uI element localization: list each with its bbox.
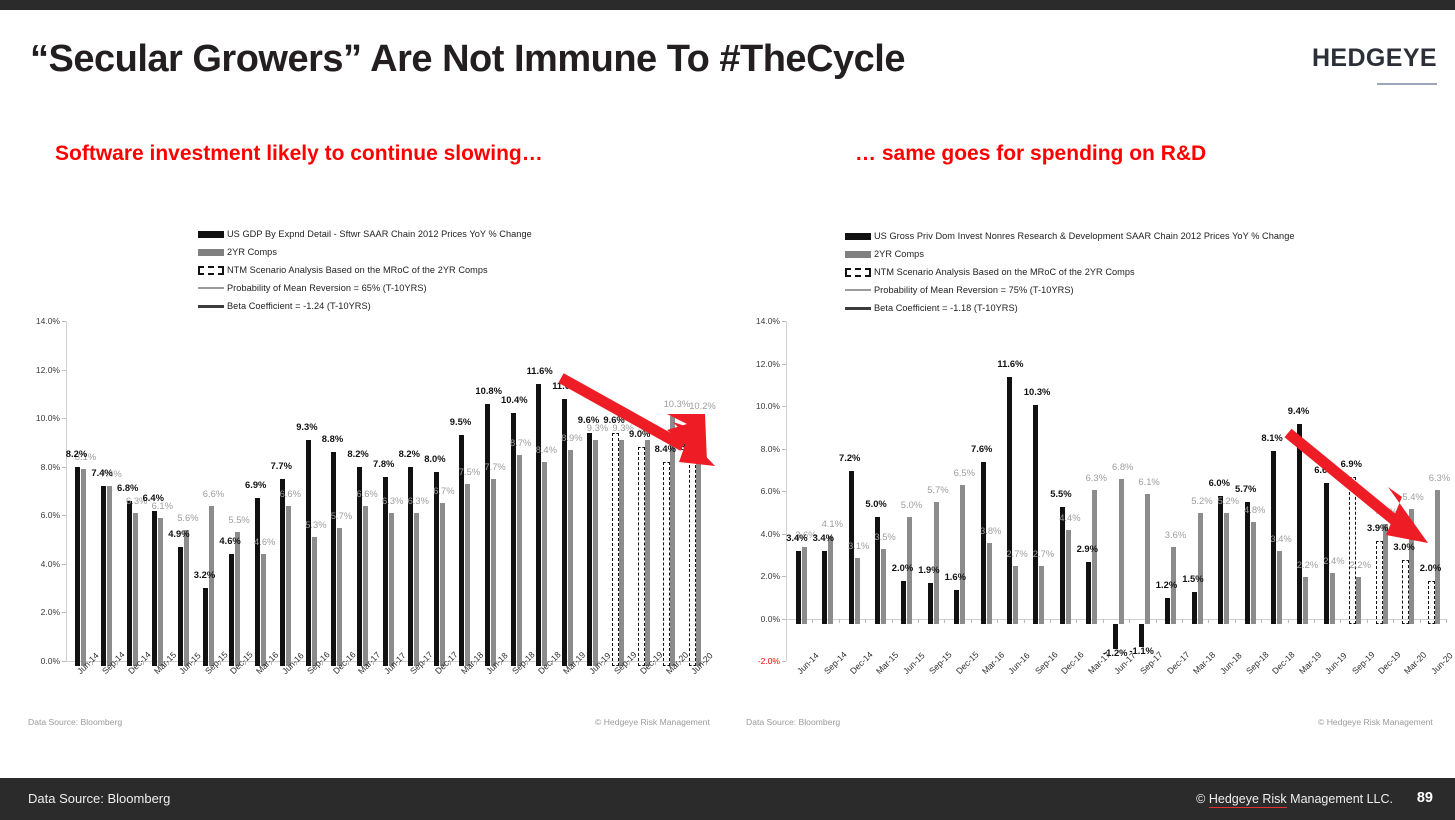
chart-source-left: Data Source: Bloomberg xyxy=(28,717,122,727)
x-axis-tick-label: Jun-18 xyxy=(1218,650,1244,676)
comps-series-bar xyxy=(934,502,939,623)
comps-data-label: 6.6% xyxy=(356,488,377,499)
primary-data-label: 7.4% xyxy=(91,467,112,478)
x-axis-tick-label: Mar-19 xyxy=(1297,650,1323,676)
comps-data-label: 7.5% xyxy=(459,466,480,477)
comps-series-bar xyxy=(619,440,624,666)
x-axis-tick-mark xyxy=(1050,619,1051,623)
comps-series-bar xyxy=(1066,530,1071,624)
comps-data-label: 10.3% xyxy=(664,398,691,409)
comps-series-bar xyxy=(1303,577,1308,624)
comps-data-label: 2.4% xyxy=(1323,555,1344,566)
comps-data-label: 4.8% xyxy=(1244,504,1265,515)
comps-series-bar xyxy=(158,518,163,666)
primary-data-label: 6.6% xyxy=(1314,464,1335,475)
page-number: 89 xyxy=(1417,790,1433,806)
primary-data-label: 8.8% xyxy=(322,433,343,444)
comps-data-label: 5.0% xyxy=(901,499,922,510)
x-axis-tick-mark xyxy=(1235,619,1236,623)
comps-data-label: 6.3% xyxy=(408,495,429,506)
comps-series-bar xyxy=(465,484,470,666)
comps-data-label: 5.7% xyxy=(927,484,948,495)
x-axis-tick-label: Sep-15 xyxy=(927,649,954,676)
legend-item: Beta Coefficient = -1.18 (T-10YRS) xyxy=(845,299,1450,317)
comps-series-bar xyxy=(1409,509,1414,624)
x-axis-tick-label: Jun-14 xyxy=(795,650,821,676)
primary-data-label: 10.4% xyxy=(501,394,528,405)
comps-series-bar xyxy=(987,543,992,624)
x-axis-tick-mark xyxy=(1367,619,1368,623)
comps-series-bar xyxy=(881,549,886,623)
comps-series-bar xyxy=(1251,522,1256,624)
footer-copyright: © Hedgeye Risk Management LLC. xyxy=(1196,792,1393,806)
legend-swatch-dashed-bar-icon xyxy=(198,266,224,275)
comps-series-bar xyxy=(235,532,240,666)
legend-item-label: 2YR Comps xyxy=(227,247,277,257)
comps-series-bar xyxy=(209,506,214,666)
comps-series-bar xyxy=(802,547,807,624)
comps-data-label: 2.2% xyxy=(1297,559,1318,570)
primary-series-bar xyxy=(536,384,541,666)
forecast-bar xyxy=(1376,541,1383,624)
forecast-bar xyxy=(689,460,696,666)
comps-data-label: 8.9% xyxy=(561,432,582,443)
y-axis-tick-label: 6.0% xyxy=(746,486,780,496)
primary-series-bar xyxy=(822,551,827,623)
comps-data-label: 5.2% xyxy=(1191,495,1212,506)
primary-data-label: 3.2% xyxy=(194,569,215,580)
primary-data-label: 7.8% xyxy=(373,458,394,469)
primary-series-bar xyxy=(1060,507,1065,624)
comps-data-label: 5.4% xyxy=(1402,491,1423,502)
primary-series-bar xyxy=(255,498,260,666)
comps-data-label: 2.2% xyxy=(1350,559,1371,570)
primary-data-label: 11.0% xyxy=(552,380,578,391)
subtitle-left: Software investment likely to continue s… xyxy=(55,142,543,166)
chart-credit-left: © Hedgeye Risk Management xyxy=(595,717,710,727)
primary-data-label: 1.5% xyxy=(1182,573,1203,584)
comps-data-label: 8.4% xyxy=(536,444,557,455)
primary-data-label: 8.5% xyxy=(680,441,701,452)
chart-source-right: Data Source: Bloomberg xyxy=(746,717,840,727)
y-axis-tick-label: 8.0% xyxy=(746,444,780,454)
y-axis-tick-label: -2.0% xyxy=(746,656,780,666)
comps-series-bar xyxy=(1198,513,1203,624)
x-axis-tick-mark xyxy=(1446,619,1447,623)
primary-data-label: 9.5% xyxy=(450,416,471,427)
primary-data-label: 4.6% xyxy=(219,535,240,546)
comps-data-label: 5.2% xyxy=(1218,495,1239,506)
forecast-bar xyxy=(1402,560,1409,624)
primary-data-label: 7.7% xyxy=(271,460,292,471)
comps-series-bar xyxy=(568,450,573,666)
legend-item: 2YR Comps xyxy=(845,245,1450,263)
primary-data-label: 2.0% xyxy=(1420,562,1441,573)
footer-bar: Data Source: Bloomberg © Hedgeye Risk Ma… xyxy=(0,778,1455,820)
primary-series-bar xyxy=(178,547,183,666)
primary-data-label: 5.0% xyxy=(865,498,886,509)
legend-swatch-black-bar-icon xyxy=(845,233,871,240)
comps-series-bar xyxy=(1145,494,1150,624)
comps-series-bar xyxy=(1092,490,1097,624)
comps-series-bar xyxy=(855,558,860,624)
primary-data-label: 8.0% xyxy=(424,453,445,464)
primary-data-label: 3.4% xyxy=(786,532,807,543)
comps-data-label: 5.6% xyxy=(177,512,198,523)
legend-item-label: 2YR Comps xyxy=(874,249,924,259)
primary-series-bar xyxy=(1324,483,1329,623)
primary-series-bar xyxy=(1218,496,1223,624)
comps-series-bar xyxy=(1039,566,1044,623)
primary-data-label: 11.6% xyxy=(997,358,1023,369)
primary-data-label: 5.7% xyxy=(1235,483,1256,494)
primary-series-bar xyxy=(75,467,80,666)
footer-copyright-tail: Management LLC. xyxy=(1287,792,1393,806)
x-axis-tick-mark xyxy=(1024,619,1025,623)
legend-swatch-gray-line-icon xyxy=(198,287,224,289)
x-axis-tick-mark xyxy=(1340,619,1341,623)
legend-item-label: US GDP By Expnd Detail - Sftwr SAAR Chai… xyxy=(227,229,532,239)
primary-series-bar xyxy=(1033,405,1038,624)
comps-series-bar xyxy=(312,537,317,666)
comps-series-bar xyxy=(133,513,138,666)
legend-swatch-dark-line-icon xyxy=(845,307,871,310)
x-axis-tick-mark xyxy=(812,619,813,623)
legend-item: NTM Scenario Analysis Based on the MRoC … xyxy=(845,263,1450,281)
comps-data-label: 4.6% xyxy=(254,536,275,547)
hedgeye-logo: HEDGEYE xyxy=(1312,44,1437,85)
primary-series-bar xyxy=(928,583,933,623)
logo-text: HEDGEYE xyxy=(1312,44,1437,73)
x-axis-tick-mark xyxy=(1288,619,1289,623)
comps-series-bar xyxy=(1356,577,1361,624)
x-axis-tick-label: Dec-19 xyxy=(1376,649,1403,676)
y-axis-tick-label: 0.0% xyxy=(746,614,780,624)
footer-copyright-underlined: Hedgeye Risk xyxy=(1209,792,1287,808)
comps-data-label: 3.1% xyxy=(848,540,869,551)
y-axis-tick-label: 0.0% xyxy=(26,656,60,666)
x-axis-tick-mark xyxy=(1261,619,1262,623)
top-bar xyxy=(0,0,1455,10)
x-axis-tick-label: Sep-18 xyxy=(1244,649,1271,676)
comps-series-bar xyxy=(517,455,522,666)
x-axis-tick-label: Jun-16 xyxy=(1006,650,1032,676)
comps-series-bar xyxy=(1119,479,1124,624)
primary-data-label: 3.4% xyxy=(813,532,834,543)
primary-data-label: 7.2% xyxy=(839,452,860,463)
legend-swatch-gray-line-icon xyxy=(845,289,871,291)
x-axis-tick-mark xyxy=(944,619,945,623)
primary-series-bar xyxy=(306,440,311,666)
comps-data-label: 2.7% xyxy=(1033,548,1054,559)
x-axis-tick-label: Mar-20 xyxy=(1402,650,1428,676)
x-axis-tick-mark xyxy=(865,619,866,623)
primary-data-label: 1.6% xyxy=(945,571,966,582)
primary-series-bar xyxy=(229,554,234,666)
primary-series-bar xyxy=(1192,592,1197,624)
comps-series-bar xyxy=(363,506,368,666)
y-axis-line xyxy=(66,321,67,661)
primary-series-bar xyxy=(127,501,132,666)
comps-data-label: 3.6% xyxy=(1165,529,1186,540)
x-axis-tick-mark xyxy=(918,619,919,623)
comps-series-bar xyxy=(337,528,342,666)
y-axis-tick-label: 10.0% xyxy=(26,413,60,423)
primary-series-bar xyxy=(587,433,592,666)
comps-data-label: 5.5% xyxy=(228,514,249,525)
y-axis-tick-label: 14.0% xyxy=(746,316,780,326)
legend-item-label: Beta Coefficient = -1.24 (T-10YRS) xyxy=(227,301,371,311)
y-axis-tick-label: 12.0% xyxy=(746,359,780,369)
primary-data-label: 6.8% xyxy=(117,482,138,493)
comps-series-bar xyxy=(828,536,833,623)
x-axis-tick-mark xyxy=(1182,619,1183,623)
chart-plot-rnd: -2.0%0.0%2.0%4.0%6.0%8.0%10.0%12.0%14.0%… xyxy=(740,321,1450,666)
comps-data-label: 6.6% xyxy=(203,488,224,499)
x-axis-tick-mark xyxy=(1393,619,1394,623)
x-axis-tick-label: Sep-19 xyxy=(1350,649,1377,676)
x-axis-tick-mark xyxy=(1076,619,1077,623)
primary-data-label: 11.6% xyxy=(527,365,553,376)
primary-data-label: 6.0% xyxy=(1209,477,1230,488)
x-axis-tick-mark xyxy=(1103,619,1104,623)
primary-series-bar xyxy=(485,404,490,666)
primary-series-bar xyxy=(511,413,516,666)
comps-data-label: 3.8% xyxy=(980,525,1001,536)
primary-series-bar xyxy=(1139,624,1144,647)
primary-series-bar xyxy=(1165,598,1170,624)
comps-series-bar xyxy=(184,530,189,666)
primary-data-label: 2.0% xyxy=(892,562,913,573)
comps-series-bar xyxy=(440,503,445,666)
x-axis-tick-label: Sep-14 xyxy=(822,649,849,676)
forecast-bar xyxy=(1349,477,1356,624)
legend-item: US GDP By Expnd Detail - Sftwr SAAR Chai… xyxy=(198,225,730,243)
primary-series-bar xyxy=(796,551,801,623)
comps-data-label: 6.3% xyxy=(1429,472,1450,483)
comps-series-bar xyxy=(286,506,291,666)
comps-series-bar xyxy=(491,479,496,666)
legend-swatch-gray-bar-icon xyxy=(845,251,871,258)
comps-series-bar xyxy=(261,554,266,666)
x-axis-tick-mark xyxy=(997,619,998,623)
comps-series-bar xyxy=(81,469,86,666)
x-axis-tick-mark xyxy=(839,619,840,623)
x-axis-tick-mark xyxy=(1129,619,1130,623)
legend-item: 2YR Comps xyxy=(198,243,730,261)
comps-data-label: 10.2% xyxy=(689,400,716,411)
legend-swatch-dashed-bar-icon xyxy=(845,268,871,277)
comps-series-bar xyxy=(1224,513,1229,624)
legend-item-label: Probability of Mean Reversion = 65% (T-1… xyxy=(227,283,427,293)
x-axis-tick-mark xyxy=(1420,619,1421,623)
forecast-bar xyxy=(638,447,645,666)
comps-data-label: 5.7% xyxy=(331,510,352,521)
comps-data-label: 4.4% xyxy=(1059,512,1080,523)
legend-item: Probability of Mean Reversion = 65% (T-1… xyxy=(198,279,730,297)
primary-series-bar xyxy=(1297,424,1302,624)
comps-data-label: 6.5% xyxy=(954,467,975,478)
forecast-bar xyxy=(612,433,619,666)
slide-root: “Secular Growers” Are Not Immune To #The… xyxy=(0,0,1455,820)
x-axis-tick-label: Mar-16 xyxy=(980,650,1006,676)
x-axis-tick-label: Dec-18 xyxy=(1270,649,1297,676)
footer-copyright-symbol: © xyxy=(1196,792,1209,806)
primary-data-label: 4.9% xyxy=(168,528,189,539)
y-axis-tick-label: 8.0% xyxy=(26,462,60,472)
primary-data-label: 9.0% xyxy=(629,428,650,439)
primary-series-bar xyxy=(434,472,439,666)
comps-data-label: 5.3% xyxy=(305,519,326,530)
comps-data-label: 7.7% xyxy=(484,461,505,472)
legend-item-label: Beta Coefficient = -1.18 (T-10YRS) xyxy=(874,303,1018,313)
comps-series-bar xyxy=(1013,566,1018,623)
comps-data-label: 3.5% xyxy=(874,531,895,542)
primary-data-label: 1.2% xyxy=(1156,579,1177,590)
x-axis-tick-label: Jun-15 xyxy=(901,650,927,676)
primary-series-bar xyxy=(101,486,106,666)
legend-item-label: Probability of Mean Reversion = 75% (T-1… xyxy=(874,285,1074,295)
primary-data-label: 3.9% xyxy=(1367,522,1388,533)
primary-data-label: 10.3% xyxy=(1024,386,1051,397)
legend-item-label: NTM Scenario Analysis Based on the MRoC … xyxy=(227,265,488,275)
comps-series-bar xyxy=(1435,490,1440,624)
primary-data-label: 2.9% xyxy=(1077,543,1098,554)
primary-data-label: 6.4% xyxy=(143,492,164,503)
x-axis-tick-mark xyxy=(892,619,893,623)
primary-data-label: 7.6% xyxy=(971,443,992,454)
x-axis-tick-label: Dec-15 xyxy=(954,649,981,676)
primary-data-label: 8.1% xyxy=(1261,432,1282,443)
primary-series-bar xyxy=(954,590,959,624)
primary-data-label: 1.9% xyxy=(918,564,939,575)
legend-swatch-black-bar-icon xyxy=(198,231,224,238)
primary-data-label: 8.2% xyxy=(66,448,87,459)
y-axis-tick-label: 4.0% xyxy=(26,559,60,569)
comps-data-label: 4.1% xyxy=(822,518,843,529)
primary-data-label: 3.0% xyxy=(1393,541,1414,552)
primary-data-label: 9.3% xyxy=(296,421,317,432)
y-axis-tick-label: 10.0% xyxy=(746,401,780,411)
comps-data-label: 6.8% xyxy=(1112,461,1133,472)
primary-data-label: 5.5% xyxy=(1050,488,1071,499)
comps-series-bar xyxy=(645,440,650,666)
x-axis-tick-label: Mar-18 xyxy=(1191,650,1217,676)
comps-series-bar xyxy=(696,418,701,666)
primary-data-label: 9.6% xyxy=(603,414,624,425)
legend-swatch-gray-bar-icon xyxy=(198,249,224,256)
chart-panel-rnd: US Gross Priv Dom Invest Nonres Research… xyxy=(740,225,1450,666)
x-axis-tick-mark xyxy=(1314,619,1315,623)
comps-data-label: 6.3% xyxy=(1086,472,1107,483)
primary-series-bar xyxy=(981,462,986,624)
comps-data-label: 6.7% xyxy=(433,485,454,496)
y-axis-tick-label: 6.0% xyxy=(26,510,60,520)
y-axis-tick-label: 2.0% xyxy=(746,571,780,581)
comps-series-bar xyxy=(593,440,598,666)
primary-series-bar xyxy=(1007,377,1012,624)
comps-series-bar xyxy=(414,513,419,666)
comps-series-bar xyxy=(1383,524,1388,624)
comps-data-label: 6.6% xyxy=(280,488,301,499)
legend-item: NTM Scenario Analysis Based on the MRoC … xyxy=(198,261,730,279)
primary-data-label: 8.4% xyxy=(655,443,676,454)
primary-data-label: -1.1% xyxy=(1129,645,1154,656)
page-title: “Secular Growers” Are Not Immune To #The… xyxy=(30,38,905,81)
x-axis-tick-label: Jun-20 xyxy=(1429,650,1455,676)
primary-data-label: 6.9% xyxy=(245,479,266,490)
footer-source: Data Source: Bloomberg xyxy=(28,791,170,806)
legend-item-label: NTM Scenario Analysis Based on the MRoC … xyxy=(874,267,1135,277)
primary-series-bar xyxy=(331,452,336,666)
y-axis-tick-label: 14.0% xyxy=(26,316,60,326)
comps-series-bar xyxy=(1330,573,1335,624)
forecast-bar xyxy=(663,462,670,666)
y-axis-tick-label: 4.0% xyxy=(746,529,780,539)
x-axis-tick-mark xyxy=(971,619,972,623)
legend-item: Probability of Mean Reversion = 75% (T-1… xyxy=(845,281,1450,299)
primary-data-label: 8.2% xyxy=(399,448,420,459)
legend-item: US Gross Priv Dom Invest Nonres Research… xyxy=(845,227,1450,245)
x-axis-tick-mark xyxy=(1156,619,1157,623)
primary-data-label: 9.4% xyxy=(1288,405,1309,416)
y-axis-tick-label: 12.0% xyxy=(26,365,60,375)
comps-series-bar xyxy=(389,513,394,666)
x-axis-tick-label: Dec-16 xyxy=(1059,649,1086,676)
chart-legend-rnd: US Gross Priv Dom Invest Nonres Research… xyxy=(845,225,1450,317)
primary-data-label: 9.6% xyxy=(578,414,599,425)
legend-swatch-dark-line-icon xyxy=(198,305,224,308)
comps-data-label: 2.7% xyxy=(1006,548,1027,559)
primary-series-bar xyxy=(1113,624,1118,650)
logo-rule xyxy=(1377,83,1437,85)
chart-credit-right: © Hedgeye Risk Management xyxy=(1318,717,1433,727)
legend-item-label: US Gross Priv Dom Invest Nonres Research… xyxy=(874,231,1295,241)
primary-series-bar xyxy=(1245,502,1250,623)
x-axis-tick-label: Jun-19 xyxy=(1323,650,1349,676)
primary-data-label: 8.2% xyxy=(347,448,368,459)
primary-data-label: 10.8% xyxy=(475,385,502,396)
comps-data-label: 8.7% xyxy=(510,437,531,448)
chart-panel-software: US GDP By Expnd Detail - Sftwr SAAR Chai… xyxy=(20,225,730,666)
x-axis-tick-label: Mar-15 xyxy=(874,650,900,676)
comps-series-bar xyxy=(107,486,112,666)
chart-plot-software: 0.0%2.0%4.0%6.0%8.0%10.0%12.0%14.0%8.1%8… xyxy=(20,321,730,666)
subtitle-right: … same goes for spending on R&D xyxy=(855,142,1206,166)
x-axis-tick-mark xyxy=(1208,619,1209,623)
legend-item: Beta Coefficient = -1.24 (T-10YRS) xyxy=(198,297,730,315)
primary-series-bar xyxy=(152,511,157,666)
comps-data-label: 3.4% xyxy=(1270,533,1291,544)
comps-data-label: 4.7% xyxy=(1376,506,1397,517)
y-axis-tick-mark xyxy=(782,661,786,662)
primary-series-bar xyxy=(901,581,906,624)
y-axis-tick-label: 2.0% xyxy=(26,607,60,617)
comps-series-bar xyxy=(960,485,965,623)
primary-data-label: 6.9% xyxy=(1341,458,1362,469)
comps-data-label: 6.3% xyxy=(382,495,403,506)
comps-series-bar xyxy=(1277,551,1282,623)
forecast-bar xyxy=(1428,581,1435,624)
x-axis-tick-label: Dec-14 xyxy=(848,649,875,676)
x-axis-tick-label: Dec-17 xyxy=(1165,649,1192,676)
primary-series-bar xyxy=(1086,562,1091,624)
primary-series-bar xyxy=(280,479,285,666)
primary-series-bar xyxy=(203,588,208,666)
x-axis-tick-label: Sep-16 xyxy=(1033,649,1060,676)
chart-legend-software: US GDP By Expnd Detail - Sftwr SAAR Chai… xyxy=(198,225,730,315)
y-axis-line xyxy=(786,321,787,661)
